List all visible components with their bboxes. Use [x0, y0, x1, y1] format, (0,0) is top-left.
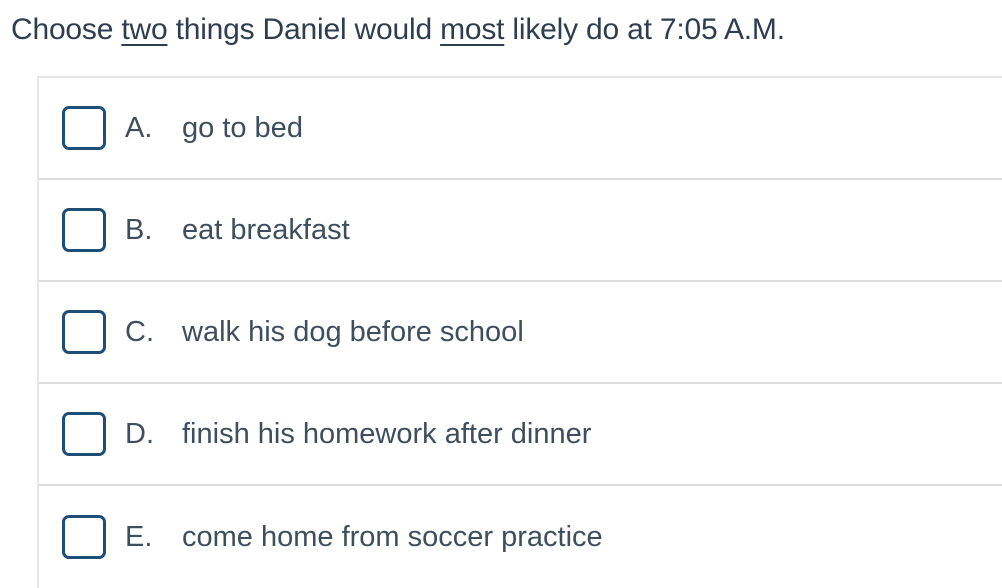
option-text-d: finish his homework after dinner: [182, 417, 1002, 451]
option-letter-c: C.: [125, 315, 182, 349]
checkbox-icon-c[interactable]: [62, 310, 106, 354]
prompt-emphasis-most: most: [440, 13, 504, 46]
question-prompt: Choose two things Daniel would most like…: [11, 9, 991, 51]
answer-options-list: A. go to bed B. eat breakfast C. walk hi…: [37, 76, 1002, 588]
prompt-text-part-1: Choose: [11, 13, 121, 46]
question-page: Choose two things Daniel would most like…: [0, 0, 1002, 577]
option-row-e[interactable]: E. come home from soccer practice: [39, 486, 1002, 588]
prompt-emphasis-two: two: [121, 13, 167, 46]
option-text-c: walk his dog before school: [182, 315, 1002, 349]
checkbox-icon-b[interactable]: [62, 208, 106, 252]
option-row-b[interactable]: B. eat breakfast: [39, 180, 1002, 282]
option-row-d[interactable]: D. finish his homework after dinner: [39, 384, 1002, 486]
checkbox-icon-a[interactable]: [62, 106, 106, 150]
option-letter-b: B.: [125, 213, 182, 247]
prompt-text-part-2: things Daniel would: [167, 13, 440, 46]
option-letter-d: D.: [125, 417, 182, 451]
checkbox-icon-d[interactable]: [62, 412, 106, 456]
option-row-a[interactable]: A. go to bed: [39, 78, 1002, 180]
option-row-c[interactable]: C. walk his dog before school: [39, 282, 1002, 384]
option-text-b: eat breakfast: [182, 213, 1002, 247]
prompt-text-part-3: likely do at 7:05 A.M.: [504, 13, 785, 46]
option-letter-e: E.: [125, 520, 182, 554]
option-letter-a: A.: [125, 111, 182, 145]
option-text-e: come home from soccer practice: [182, 520, 1002, 554]
option-text-a: go to bed: [182, 111, 1002, 145]
checkbox-icon-e[interactable]: [62, 515, 106, 559]
